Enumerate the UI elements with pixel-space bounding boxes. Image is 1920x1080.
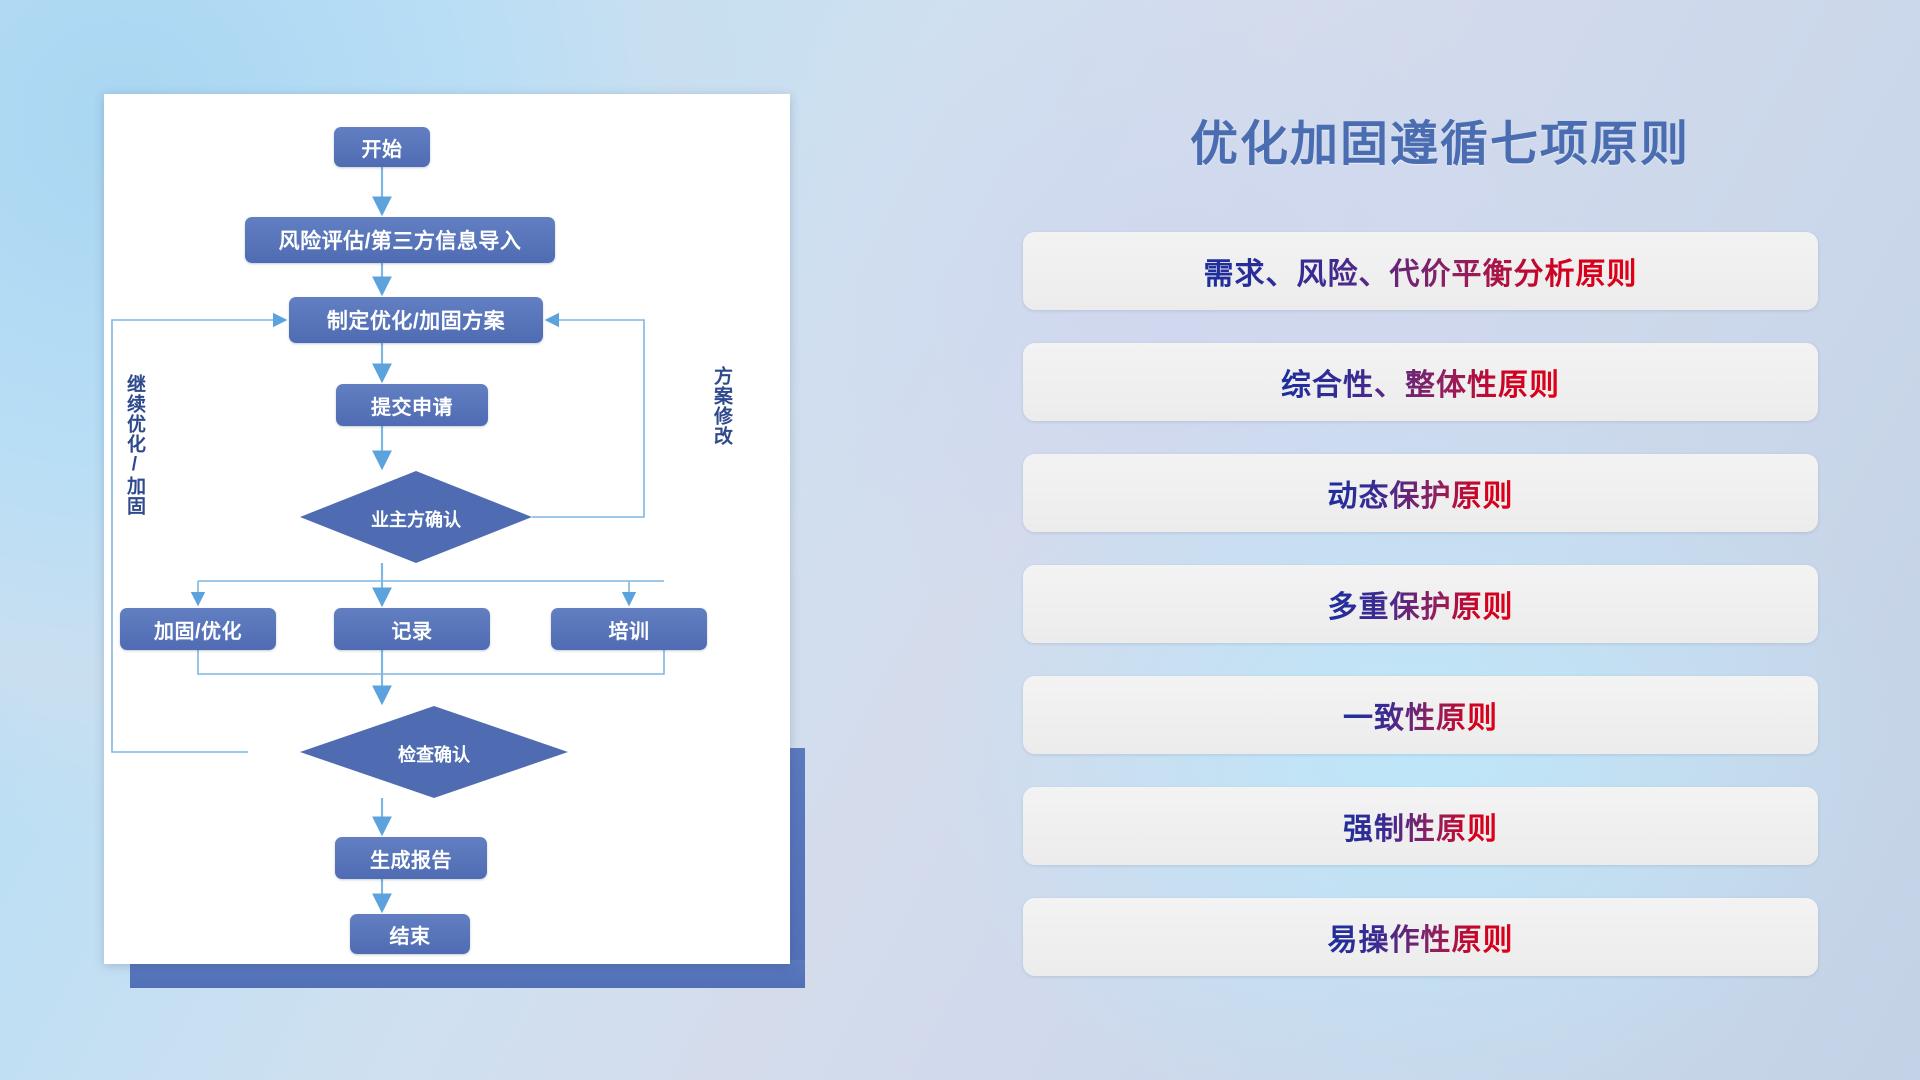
flow-node-inspect-confirm-label: 检查确认 [300,741,568,767]
principle-label: 综合性、整体性原则 [1281,360,1560,404]
flow-node-make-plan[interactable]: 制定优化/加固方案 [289,297,543,343]
flow-node-record[interactable]: 记录 [334,608,490,650]
flowchart-card: 开始 风险评估/第三方信息导入 制定优化/加固方案 提交申请 业主方确认 加固/… [104,94,790,964]
panel-title: 优化加固遵循七项原则 [1030,104,1850,174]
principles-list: 需求、风险、代价平衡分析原则 综合性、整体性原则 动态保护原则 多重保护原则 一… [1023,232,1818,1009]
flow-node-risk-assessment[interactable]: 风险评估/第三方信息导入 [245,217,555,263]
accent-block-horizontal [130,960,805,988]
loop-label-continue-optimize: 继续优化/加固 [124,374,144,516]
principle-card-7[interactable]: 易操作性原则 [1023,898,1818,976]
principle-card-2[interactable]: 综合性、整体性原则 [1023,343,1818,421]
principle-label: 易操作性原则 [1328,915,1514,959]
flow-node-owner-confirm-label: 业主方确认 [300,506,532,532]
flow-node-reinforce-optimize[interactable]: 加固/优化 [120,608,276,650]
principle-label: 多重保护原则 [1328,582,1514,626]
flow-node-end[interactable]: 结束 [350,914,470,954]
flow-node-generate-report[interactable]: 生成报告 [335,837,487,879]
principle-card-4[interactable]: 多重保护原则 [1023,565,1818,643]
principle-label: 一致性原则 [1343,693,1498,737]
principle-label: 动态保护原则 [1328,471,1514,515]
loop-label-plan-revision: 方案修改 [711,366,731,446]
slide-canvas: 开始 风险评估/第三方信息导入 制定优化/加固方案 提交申请 业主方确认 加固/… [0,0,1920,1080]
principle-label: 强制性原则 [1343,804,1498,848]
principle-card-6[interactable]: 强制性原则 [1023,787,1818,865]
principle-card-1[interactable]: 需求、风险、代价平衡分析原则 [1023,232,1818,310]
flow-node-start[interactable]: 开始 [334,127,430,167]
principle-card-5[interactable]: 一致性原则 [1023,676,1818,754]
flow-node-submit-application[interactable]: 提交申请 [336,384,488,426]
principle-label: 需求、风险、代价平衡分析原则 [1204,249,1638,293]
flow-node-training[interactable]: 培训 [551,608,707,650]
principle-card-3[interactable]: 动态保护原则 [1023,454,1818,532]
